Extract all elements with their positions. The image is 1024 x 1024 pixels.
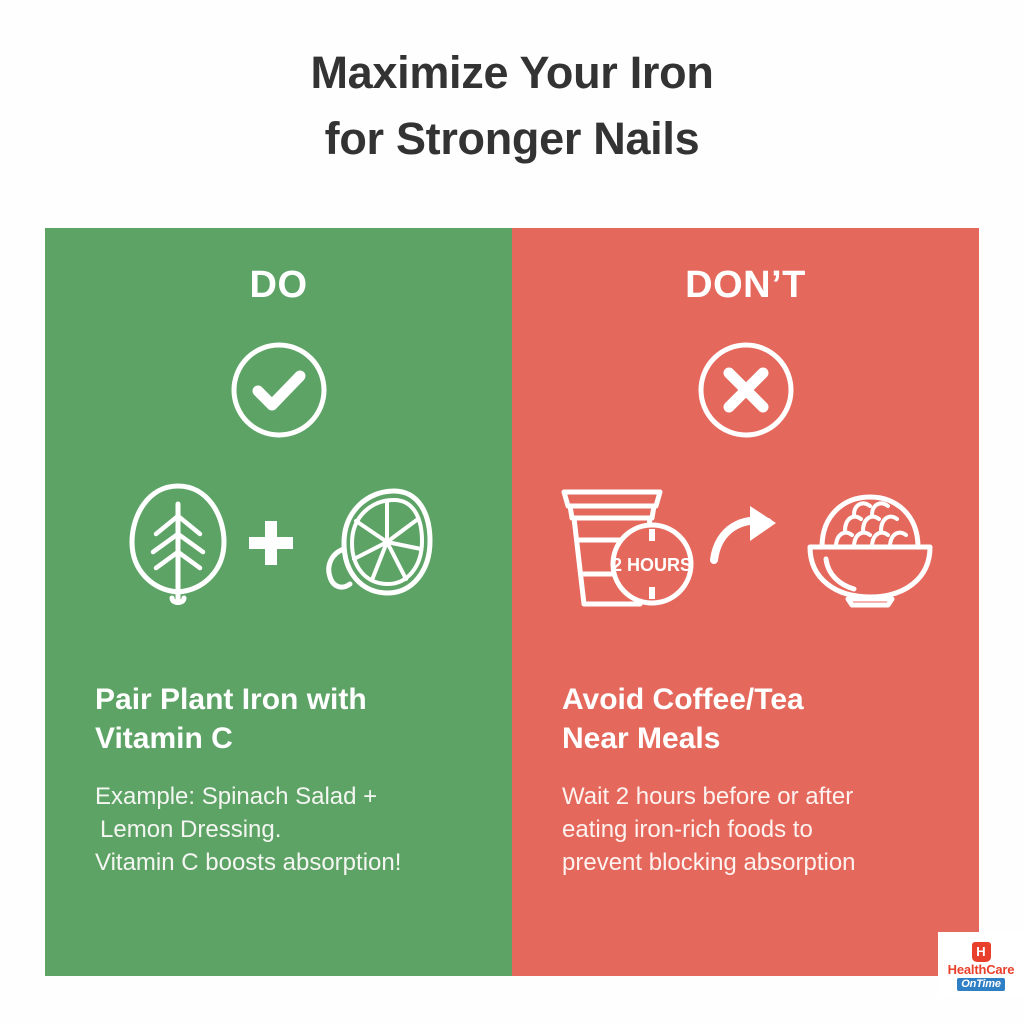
dont-badge [512,338,979,442]
infographic-canvas: Maximize Your Iron for Stronger Nails DO [0,0,1024,1024]
dont-heading-line-1: Avoid Coffee/Tea [562,680,945,719]
food-bowl-icon [796,485,944,609]
comparison-panels: DO [45,228,979,976]
clock-label: 2 HOURS [611,555,691,575]
do-badge [45,338,512,442]
do-body-line-2: Lemon Dressing. [95,813,478,846]
do-panel-body: Example: Spinach Salad + Lemon Dressing.… [95,780,478,879]
do-panel: DO [45,228,512,976]
coffee-cup-icon: 2 HOURS [548,478,698,616]
title-line-2: for Stronger Nails [0,106,1024,172]
dont-body-line-2: eating iron-rich foods to [562,813,945,846]
title-line-1: Maximize Your Iron [0,40,1024,106]
dont-icon-row: 2 HOURS [512,478,979,616]
logo-brand-name: HealthCare [948,963,1015,977]
lemon-half-icon [308,483,436,603]
circle-check-icon [227,338,331,442]
do-panel-heading: Pair Plant Iron with Vitamin C [95,680,478,758]
logo-brand-sub: OnTime [957,978,1005,991]
dont-body-line-1: Wait 2 hours before or after [562,780,945,813]
do-body-line-1: Example: Spinach Salad + [95,780,478,813]
dont-panel-header: DON’T [512,264,979,307]
dont-body-line-3: prevent blocking absorption [562,846,945,879]
dont-panel-heading: Avoid Coffee/Tea Near Meals [562,680,945,758]
do-heading-line-2: Vitamin C [95,719,478,758]
spinach-leaf-icon [122,478,234,608]
do-panel-text: Pair Plant Iron with Vitamin C Example: … [95,680,478,879]
curved-arrow-icon [706,498,788,580]
dont-panel: DON’T [512,228,979,976]
dont-panel-body: Wait 2 hours before or after eating iron… [562,780,945,879]
do-icon-row [45,478,512,608]
page-title: Maximize Your Iron for Stronger Nails [0,40,1024,172]
healthcare-shield-icon: H [972,942,991,962]
do-panel-header: DO [45,264,512,307]
dont-heading-line-2: Near Meals [562,719,945,758]
plus-icon [240,512,302,574]
circle-cross-icon [694,338,798,442]
brand-logo[interactable]: H HealthCare OnTime [938,932,1024,998]
do-heading-line-1: Pair Plant Iron with [95,680,478,719]
do-body-line-3: Vitamin C boosts absorption! [95,846,478,879]
dont-panel-text: Avoid Coffee/Tea Near Meals Wait 2 hours… [562,680,945,879]
